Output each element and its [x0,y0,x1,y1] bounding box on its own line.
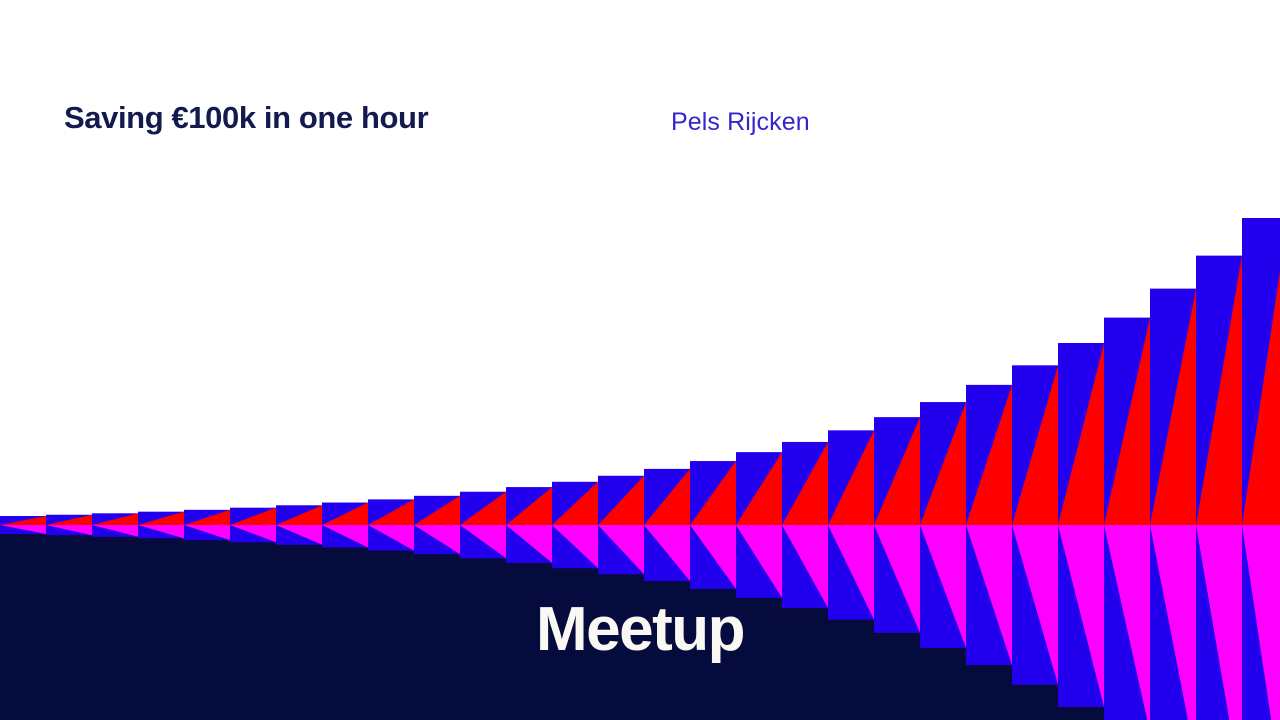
bar-upper-triangle [644,469,690,525]
page-title: Saving €100k in one hour [64,100,428,136]
bar-upper-triangle [46,515,92,525]
bar-upper-triangle [276,505,322,525]
bar-upper-triangle [184,510,230,525]
bar-upper-triangle [92,513,138,525]
bar-upper-triangle [782,442,828,525]
bar-upper-triangle [414,496,460,525]
slide-header: Saving €100k in one hour Pels Rijcken [0,0,1280,190]
meetup-wordmark: Meetup [0,596,1280,664]
bar-upper-triangle [230,508,276,525]
bar-upper-triangle [0,516,46,525]
bar-upper-triangle [920,402,966,525]
bar-upper-triangle [138,512,184,525]
bar-upper-triangle [1196,256,1242,525]
bar-upper-triangle [552,482,598,525]
bar-upper-triangle [506,487,552,525]
bar-upper-triangle [690,461,736,525]
bar-upper-triangle [1150,289,1196,525]
bar-upper-triangle [966,385,1012,525]
organization-name: Pels Rijcken [671,108,810,137]
bar-upper-triangle [598,476,644,525]
bar-upper-triangle [460,492,506,525]
bar-upper-triangle [322,503,368,525]
bar-upper-triangle [874,417,920,525]
bar-upper-triangle [1104,318,1150,525]
bar-upper-triangle [1242,218,1280,525]
bar-upper-triangle [368,499,414,525]
bar-upper-triangle [1012,365,1058,525]
bar-upper-triangle [1058,343,1104,525]
bar-upper-triangle [828,430,874,525]
bar-upper-triangle [736,452,782,525]
presentation-slide: Saving €100k in one hour Pels Rijcken Me… [0,0,1280,720]
